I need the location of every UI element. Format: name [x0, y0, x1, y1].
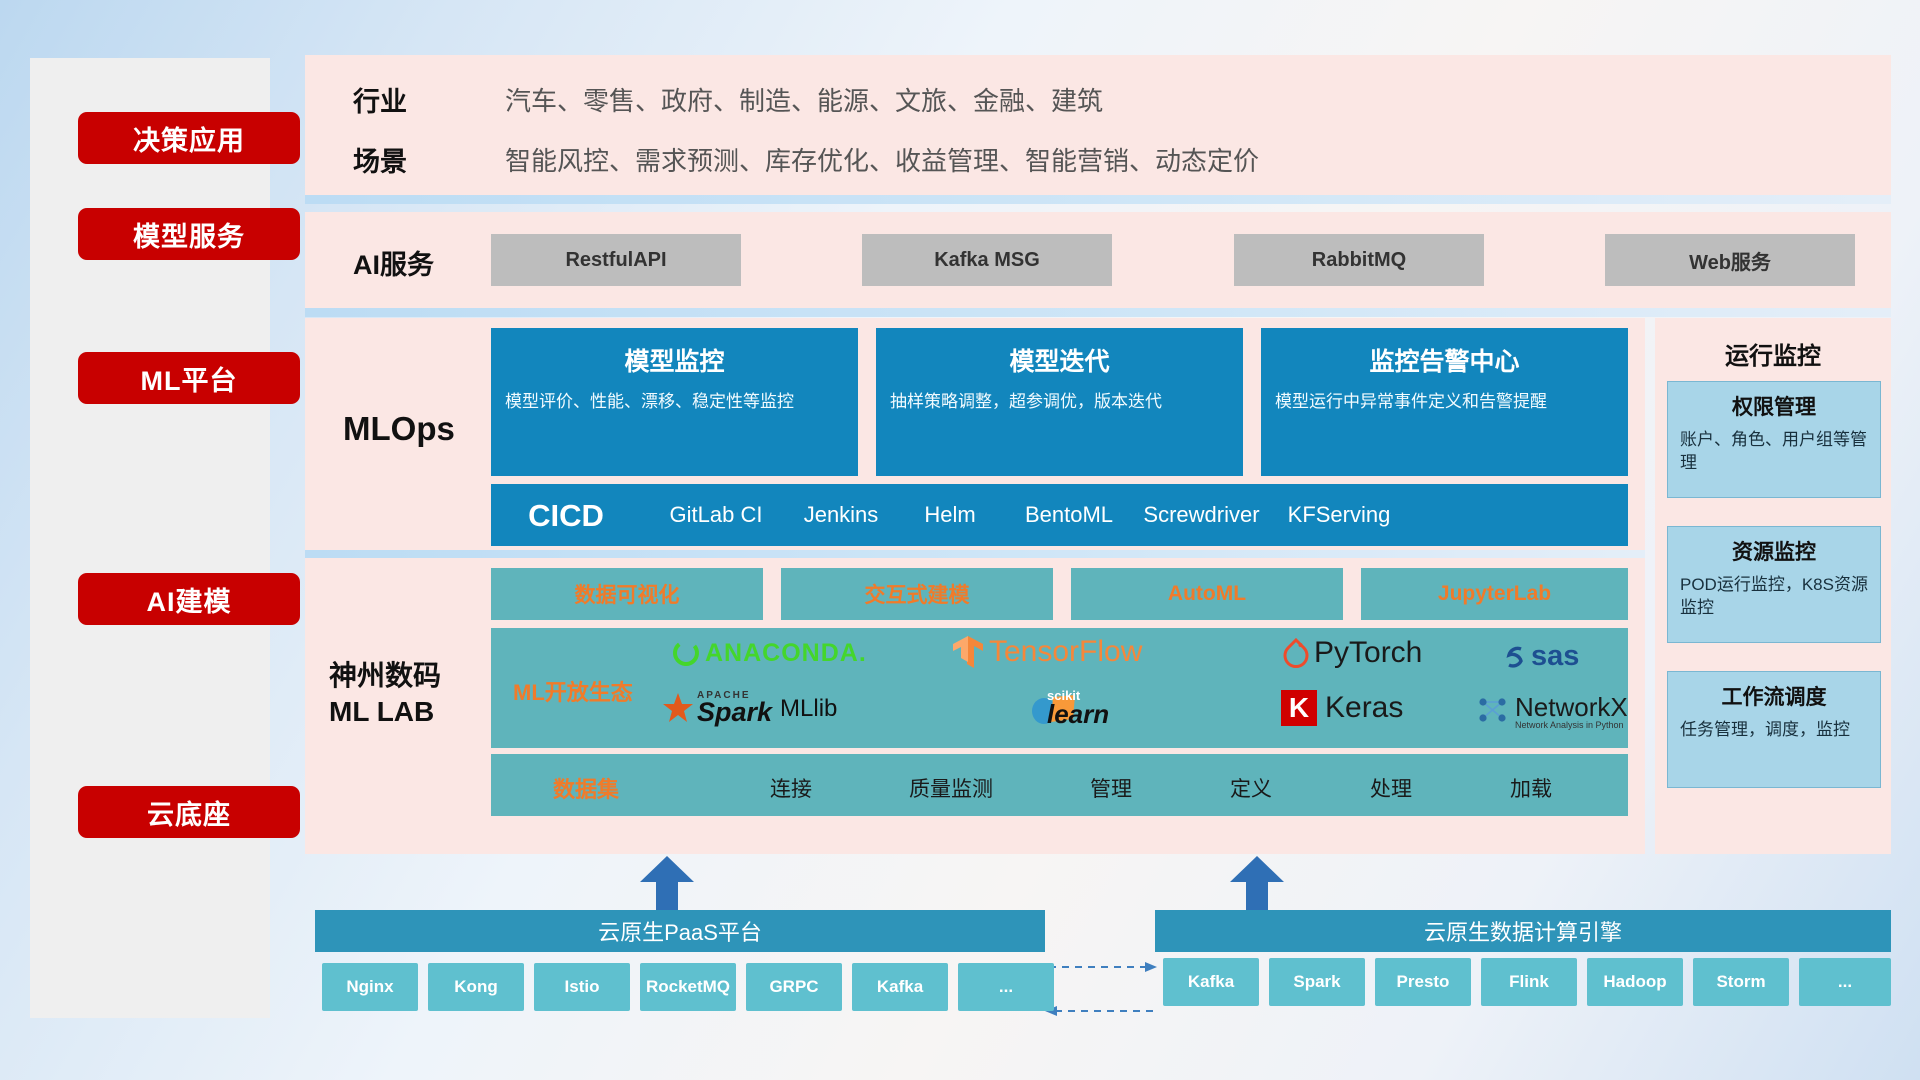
ai-service-web[interactable]: Web服务 — [1605, 234, 1855, 286]
rail-item-cloud-base[interactable]: 云底座 — [78, 786, 300, 838]
rail-label: ML平台 — [141, 359, 238, 398]
chip-label: Flink — [1509, 973, 1549, 992]
rail-item-ai-modeling[interactable]: AI建模 — [78, 573, 300, 625]
chip-label: Storm — [1716, 973, 1765, 992]
scenario-label: 场景 — [353, 140, 407, 179]
anaconda-logo: ANACONDA. — [671, 638, 867, 668]
right-monitor-band: 运行监控 权限管理 账户、角色、用户组等管理 资源监控 POD运行监控，K8S资… — [1655, 318, 1891, 854]
rail-label: AI建模 — [147, 580, 232, 619]
paas-chip-more[interactable]: ... — [958, 963, 1054, 1011]
ml-lab-tab-visualization[interactable]: 数据可视化 — [491, 568, 763, 620]
architecture-diagram: 决策应用 模型服务 ML平台 AI建模 云底座 行业 汽车、零售、政府、制造、能… — [0, 0, 1920, 1080]
scenario-text: 智能风控、需求预测、库存优化、收益管理、智能营销、动态定价 — [505, 141, 1259, 178]
ai-service-band: AI服务 RestfulAPI Kafka MSG RabbitMQ Web服务 — [305, 212, 1891, 308]
dataset-item-define[interactable]: 定义 — [1191, 773, 1311, 803]
cicd-item-kfserving[interactable]: KFServing — [1274, 484, 1404, 527]
monitor-box-resources[interactable]: 资源监控 POD运行监控，K8S资源监控 — [1667, 526, 1881, 643]
chip-label: ... — [1838, 973, 1852, 992]
card-desc: 模型评价、性能、漂移、稳定性等监控 — [505, 390, 844, 413]
band-separator-2 — [305, 308, 1891, 317]
chip-label: Kong — [454, 978, 497, 997]
ml-lab-tab-interactive-modeling[interactable]: 交互式建模 — [781, 568, 1053, 620]
paas-chip-nginx[interactable]: Nginx — [322, 963, 418, 1011]
mlops-label: MLOps — [343, 410, 455, 448]
engine-title: 云原生数据计算引擎 — [1424, 915, 1622, 947]
dataset-item-load[interactable]: 加载 — [1471, 773, 1591, 803]
ml-lab-tab-automl[interactable]: AutoML — [1071, 568, 1343, 620]
dataset-label: 数据集 — [553, 772, 619, 804]
left-rail: 决策应用 模型服务 ML平台 AI建模 云底座 — [30, 58, 270, 1018]
keras-mark: K — [1281, 690, 1317, 726]
ai-service-rabbitmq[interactable]: RabbitMQ — [1234, 234, 1484, 286]
keras-text: Keras — [1325, 691, 1403, 725]
card-title: 模型迭代 — [876, 342, 1243, 378]
pytorch-icon — [1281, 637, 1311, 669]
chip-label: Presto — [1397, 973, 1450, 992]
tab-label: 交互式建模 — [865, 579, 970, 609]
networkx-icon — [1476, 694, 1512, 728]
chip-label: RocketMQ — [646, 978, 730, 997]
ml-lab-label: 神州数码 ML LAB — [329, 658, 441, 731]
card-title: 监控告警中心 — [1261, 342, 1628, 378]
engine-chip-more[interactable]: ... — [1799, 958, 1891, 1006]
mllib-text: MLlib — [780, 695, 837, 723]
chip-label: ... — [999, 978, 1013, 997]
paas-engine-connector — [1045, 955, 1157, 1025]
engine-chip-flink[interactable]: Flink — [1481, 958, 1577, 1006]
rail-label: 决策应用 — [133, 119, 245, 158]
dataset-item-process[interactable]: 处理 — [1331, 773, 1451, 803]
sas-logo: sas — [1501, 640, 1579, 673]
dataset-item-manage[interactable]: 管理 — [1051, 773, 1171, 803]
tensorflow-text: TensorFlow — [989, 635, 1142, 669]
spark-mllib-logo: APACHE Spark MLlib — [661, 690, 837, 728]
mlops-card-alert-center[interactable]: 监控告警中心 模型运行中异常事件定义和告警提醒 — [1261, 328, 1628, 476]
engine-chip-kafka[interactable]: Kafka — [1163, 958, 1259, 1006]
paas-chip-kafka[interactable]: Kafka — [852, 963, 948, 1011]
industry-label: 行业 — [353, 80, 407, 119]
box-body: 任务管理，调度，监控 — [1680, 719, 1868, 742]
pytorch-logo: PyTorch — [1281, 636, 1422, 670]
paas-chip-rocketmq[interactable]: RocketMQ — [640, 963, 736, 1011]
card-title: 模型监控 — [491, 342, 858, 378]
engine-chip-spark[interactable]: Spark — [1269, 958, 1365, 1006]
networkx-text: NetworkX — [1515, 692, 1628, 723]
paas-chip-istio[interactable]: Istio — [534, 963, 630, 1011]
dataset-item-quality[interactable]: 质量监测 — [871, 773, 1031, 803]
mlops-card-model-monitor[interactable]: 模型监控 模型评价、性能、漂移、稳定性等监控 — [491, 328, 858, 476]
chip-label: RestfulAPI — [565, 249, 666, 272]
rail-label: 云底座 — [147, 793, 231, 832]
paas-title-bar[interactable]: 云原生PaaS平台 — [315, 910, 1045, 952]
ai-service-label: AI服务 — [353, 243, 434, 282]
rail-label: 模型服务 — [133, 215, 245, 254]
rail-item-model-service[interactable]: 模型服务 — [78, 208, 300, 260]
cicd-item-bentoml[interactable]: BentoML — [1009, 484, 1129, 527]
dataset-row: 数据集 连接 质量监测 管理 定义 处理 加载 — [491, 754, 1628, 816]
monitor-box-permissions[interactable]: 权限管理 账户、角色、用户组等管理 — [1667, 381, 1881, 498]
ml-lab-label-line2: ML LAB — [329, 694, 441, 730]
monitor-box-workflow[interactable]: 工作流调度 任务管理，调度，监控 — [1667, 671, 1881, 788]
chip-label: Kafka MSG — [934, 249, 1040, 272]
keras-logo: K Keras — [1281, 690, 1403, 726]
chip-label: Hadoop — [1603, 973, 1666, 992]
engine-chip-hadoop[interactable]: Hadoop — [1587, 958, 1683, 1006]
tensorflow-icon — [951, 634, 985, 670]
ml-ecosystem-label: ML开放生态 — [513, 675, 633, 707]
ml-lab-label-line1: 神州数码 — [329, 658, 441, 694]
band-separator-1 — [305, 195, 1891, 204]
paas-chip-grpc[interactable]: GRPC — [746, 963, 842, 1011]
cicd-item-jenkins[interactable]: Jenkins — [791, 484, 891, 527]
sas-text: sas — [1531, 640, 1579, 673]
ml-lab-band: 神州数码 ML LAB 数据可视化 交互式建模 AutoML JupyterLa… — [305, 558, 1645, 854]
chip-label: Kafka — [1188, 973, 1234, 992]
anaconda-text: ANACONDA. — [705, 639, 867, 668]
dataset-item-connect[interactable]: 连接 — [731, 773, 851, 803]
arrow-paas-up — [640, 856, 694, 914]
box-head: 工作流调度 — [1668, 681, 1880, 711]
scikit-text: learn — [1047, 699, 1109, 730]
cicd-item-gitlab[interactable]: GitLab CI — [641, 484, 791, 527]
chip-label: Spark — [1293, 973, 1340, 992]
decision-application-band: 行业 汽车、零售、政府、制造、能源、文旅、金融、建筑 场景 智能风控、需求预测、… — [305, 55, 1891, 195]
networkx-logo: NetworkX Network Analysis in Python — [1476, 692, 1628, 730]
tab-label: JupyterLab — [1438, 582, 1551, 606]
card-desc: 模型运行中异常事件定义和告警提醒 — [1275, 390, 1614, 413]
chip-label: RabbitMQ — [1312, 249, 1406, 272]
engine-chip-storm[interactable]: Storm — [1693, 958, 1789, 1006]
chip-label: Nginx — [346, 978, 393, 997]
spark-text: Spark — [697, 697, 772, 728]
cicd-row[interactable]: CICD GitLab CI Jenkins Helm BentoML Scre… — [491, 484, 1628, 546]
industry-text: 汽车、零售、政府、制造、能源、文旅、金融、建筑 — [505, 81, 1103, 118]
mlops-band: MLOps 模型监控 模型评价、性能、漂移、稳定性等监控 模型迭代 抽样策略调整… — [305, 318, 1645, 550]
cicd-item-helm[interactable]: Helm — [891, 484, 1009, 527]
box-head: 资源监控 — [1668, 536, 1880, 566]
sas-icon — [1501, 643, 1529, 671]
cicd-label: CICD — [491, 484, 641, 534]
engine-chip-presto[interactable]: Presto — [1375, 958, 1471, 1006]
box-body: 账户、角色、用户组等管理 — [1680, 429, 1868, 475]
pytorch-text: PyTorch — [1314, 636, 1422, 670]
mlops-card-model-iteration[interactable]: 模型迭代 抽样策略调整，超参调优，版本迭代 — [876, 328, 1243, 476]
box-head: 权限管理 — [1668, 391, 1880, 421]
ml-ecosystem-band: ML开放生态 ANACONDA. TensorFlow — [491, 628, 1628, 748]
card-desc: 抽样策略调整，超参调优，版本迭代 — [890, 390, 1229, 413]
networkx-sub: Network Analysis in Python — [1515, 720, 1628, 730]
chip-label: Kafka — [877, 978, 923, 997]
tab-label: 数据可视化 — [575, 579, 680, 609]
chip-label: Web服务 — [1689, 246, 1771, 275]
anaconda-icon — [671, 638, 701, 668]
paas-chip-kong[interactable]: Kong — [428, 963, 524, 1011]
rail-item-ml-platform[interactable]: ML平台 — [78, 352, 300, 404]
rail-item-decision[interactable]: 决策应用 — [78, 112, 300, 164]
engine-title-bar[interactable]: 云原生数据计算引擎 — [1155, 910, 1891, 952]
spark-icon — [661, 692, 695, 726]
ai-service-restfulapi[interactable]: RestfulAPI — [491, 234, 741, 286]
ml-lab-tab-jupyterlab[interactable]: JupyterLab — [1361, 568, 1628, 620]
tab-label: AutoML — [1168, 582, 1246, 606]
scikit-learn-logo: scikit learn — [1031, 688, 1109, 730]
paas-title: 云原生PaaS平台 — [598, 915, 762, 947]
ai-service-kafka-msg[interactable]: Kafka MSG — [862, 234, 1112, 286]
chip-label: GRPC — [769, 978, 818, 997]
right-monitor-title: 运行监控 — [1655, 336, 1891, 371]
arrow-engine-up — [1230, 856, 1284, 914]
tensorflow-logo: TensorFlow — [951, 634, 1142, 670]
cicd-item-screwdriver[interactable]: Screwdriver — [1129, 484, 1274, 527]
chip-label: Istio — [565, 978, 600, 997]
box-body: POD运行监控，K8S资源监控 — [1680, 574, 1868, 620]
